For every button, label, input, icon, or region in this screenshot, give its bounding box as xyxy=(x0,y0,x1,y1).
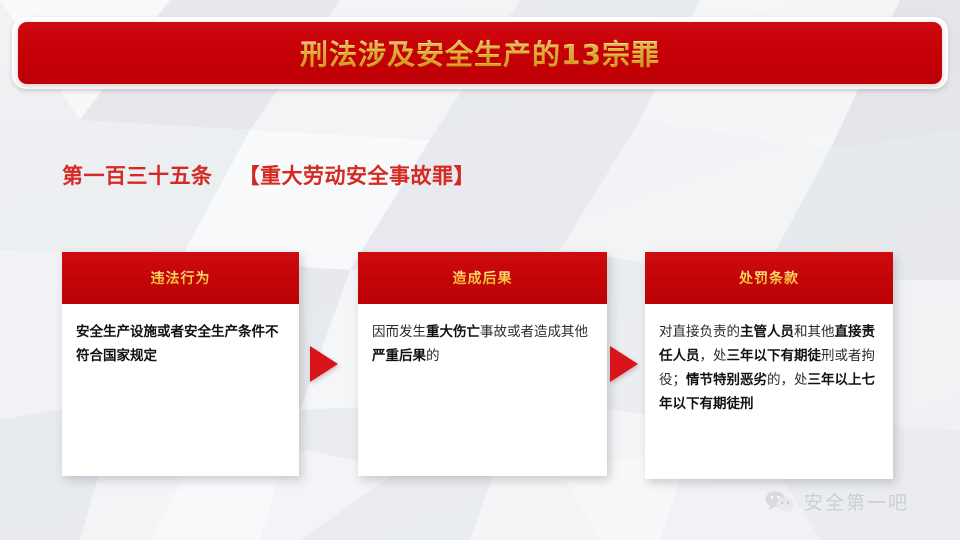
arrow-card2-to-card3-icon xyxy=(610,346,638,382)
card-consequence: 造成后果 因而发生重大伤亡事故或者造成其他严重后果的 xyxy=(358,252,607,476)
title-banner: 刑法涉及安全生产的13宗罪 xyxy=(18,22,942,84)
arrow-card1-to-card2-icon xyxy=(310,346,338,382)
crime-name: 【重大劳动安全事故罪】 xyxy=(239,164,476,188)
card-violation-body: 安全生产设施或者安全生产条件不符合国家规定 xyxy=(62,304,299,378)
card-violation-header-label: 违法行为 xyxy=(151,268,211,288)
card-consequence-header: 造成后果 xyxy=(358,252,607,304)
card-violation-header: 违法行为 xyxy=(62,252,299,304)
card-consequence-header-label: 造成后果 xyxy=(453,268,513,288)
page-title: 刑法涉及安全生产的13宗罪 xyxy=(300,33,660,73)
footer-watermark: 安全第一吧 xyxy=(765,488,909,515)
card-penalty-body: 对直接负责的主管人员和其他直接责任人员，处三年以下有期徒刑或者拘役；情节特别恶劣… xyxy=(645,304,893,426)
card-penalty-header-label: 处罚条款 xyxy=(739,268,799,288)
card-penalty-header: 处罚条款 xyxy=(645,252,893,304)
card-violation: 违法行为 安全生产设施或者安全生产条件不符合国家规定 xyxy=(62,252,299,476)
footer-account-name: 安全第一吧 xyxy=(804,488,909,515)
card-penalty: 处罚条款 对直接负责的主管人员和其他直接责任人员，处三年以下有期徒刑或者拘役；情… xyxy=(645,252,893,479)
article-subtitle: 第一百三十五条【重大劳动安全事故罪】 xyxy=(62,160,475,190)
wechat-icon xyxy=(765,490,795,514)
article-number: 第一百三十五条 xyxy=(62,164,213,188)
card-consequence-body: 因而发生重大伤亡事故或者造成其他严重后果的 xyxy=(358,304,607,378)
slide-root: 刑法涉及安全生产的13宗罪 第一百三十五条【重大劳动安全事故罪】 违法行为 安全… xyxy=(0,0,960,540)
